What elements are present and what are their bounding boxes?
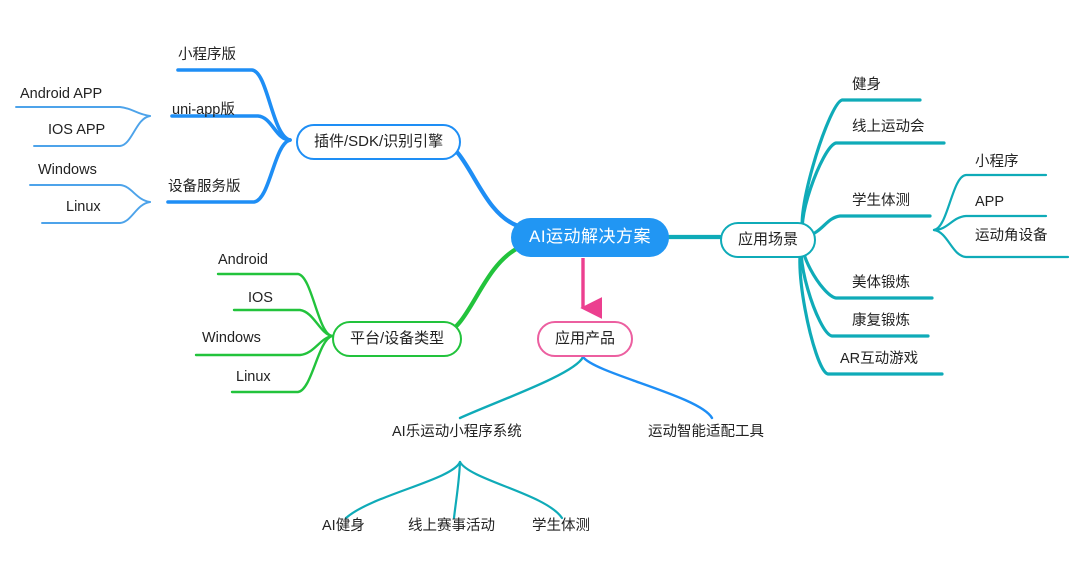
- node-ai-fitness-label: AI健身: [322, 518, 365, 534]
- node-platform-linux-label: Linux: [236, 369, 271, 385]
- connector-lines: [0, 0, 1076, 577]
- node-scenario-ar-interactive-games-label: AR互动游戏: [840, 351, 918, 367]
- node-plugin-windows[interactable]: Windows: [38, 163, 97, 178]
- link-products-to-smarttool: [583, 357, 712, 418]
- node-plugin-sdk-label: 插件/SDK/识别引擎: [314, 133, 443, 150]
- link-ailyd-to-online-events: [454, 462, 460, 518]
- node-scenario-student-fitness-test-label: 学生体测: [852, 193, 910, 209]
- mindmap-canvas: AI运动解决方案 插件/SDK/识别引擎 小程序版 uni-app版 Andro…: [0, 0, 1076, 577]
- node-app-scenarios-label: 应用场景: [738, 231, 798, 248]
- node-platform-device-type-label: 平台/设备类型: [350, 330, 444, 347]
- node-device-service-version-label: 设备服务版: [168, 179, 241, 195]
- node-ios-app-label: IOS APP: [48, 122, 105, 138]
- node-scenario-rehabilitation-label: 康复锻炼: [852, 313, 910, 329]
- node-app-scenarios[interactable]: 应用场景: [720, 222, 816, 258]
- node-scenario-fitness-label: 健身: [852, 77, 881, 93]
- node-miniprogram-version[interactable]: 小程序版: [178, 48, 236, 63]
- node-platform-ios-label: IOS: [248, 290, 273, 306]
- link-scenarios-to-online-sportsmeet: [802, 143, 944, 237]
- node-plugin-sdk[interactable]: 插件/SDK/识别引擎: [296, 124, 461, 160]
- link-platform-to-android: [218, 274, 332, 336]
- node-product-student-fitness-test[interactable]: 学生体测: [532, 519, 590, 534]
- node-scenario-test-miniprogram[interactable]: 小程序: [975, 155, 1019, 170]
- node-scenario-test-app[interactable]: APP: [975, 195, 1004, 210]
- node-scenario-test-app-label: APP: [975, 194, 1004, 210]
- node-platform-linux[interactable]: Linux: [236, 370, 271, 385]
- link-scenarios-to-student-fitness-test: [806, 216, 930, 237]
- node-plugin-linux[interactable]: Linux: [66, 200, 101, 215]
- node-scenario-online-sports-meet[interactable]: 线上运动会: [852, 120, 925, 135]
- node-scenario-student-fitness-test[interactable]: 学生体测: [852, 194, 910, 209]
- node-ai-sports-miniprogram-system-label: AI乐运动小程序系统: [392, 424, 522, 440]
- node-ios-app[interactable]: IOS APP: [48, 123, 105, 138]
- node-platform-android[interactable]: Android: [218, 253, 268, 268]
- node-scenario-body-shaping[interactable]: 美体锻炼: [852, 276, 910, 291]
- link-ailyd-to-aifitness: [346, 462, 460, 518]
- node-device-service-version[interactable]: 设备服务版: [168, 180, 241, 195]
- link-uniapp-to-android-app: [16, 107, 150, 116]
- node-online-competition-events[interactable]: 线上赛事活动: [408, 519, 495, 534]
- node-scenario-rehabilitation[interactable]: 康复锻炼: [852, 314, 910, 329]
- root-node-label: AI运动解决方案: [529, 227, 651, 246]
- node-uniapp-version-label: uni-app版: [172, 102, 235, 118]
- node-platform-ios[interactable]: IOS: [248, 291, 273, 306]
- node-platform-windows[interactable]: Windows: [202, 331, 261, 346]
- node-ai-sports-miniprogram-system[interactable]: AI乐运动小程序系统: [392, 425, 522, 440]
- node-smart-sports-adaptation-tool[interactable]: 运动智能适配工具: [648, 425, 764, 440]
- node-plugin-windows-label: Windows: [38, 162, 97, 178]
- node-scenario-sports-corner-device-label: 运动角设备: [975, 228, 1048, 244]
- node-scenario-test-miniprogram-label: 小程序: [975, 154, 1019, 170]
- node-plugin-linux-label: Linux: [66, 199, 101, 215]
- node-product-student-fitness-test-label: 学生体测: [532, 518, 590, 534]
- link-plugin-to-uniapp: [172, 116, 290, 140]
- node-scenario-sports-corner-device[interactable]: 运动角设备: [975, 229, 1048, 244]
- node-platform-device-type[interactable]: 平台/设备类型: [332, 321, 462, 357]
- node-ai-fitness[interactable]: AI健身: [322, 519, 365, 534]
- node-online-competition-events-label: 线上赛事活动: [408, 518, 495, 534]
- node-scenario-fitness[interactable]: 健身: [852, 78, 881, 93]
- node-android-app-label: Android APP: [20, 86, 102, 102]
- node-scenario-online-sports-meet-label: 线上运动会: [852, 119, 925, 135]
- node-smart-sports-adaptation-tool-label: 运动智能适配工具: [648, 424, 764, 440]
- node-android-app[interactable]: Android APP: [20, 87, 102, 102]
- link-products-to-ailyd-system: [460, 357, 583, 418]
- node-app-products-label: 应用产品: [555, 330, 615, 347]
- node-uniapp-version[interactable]: uni-app版: [172, 103, 235, 118]
- node-platform-android-label: Android: [218, 252, 268, 268]
- link-ailyd-to-student-test: [460, 462, 562, 518]
- root-node[interactable]: AI运动解决方案: [511, 218, 669, 257]
- node-scenario-ar-interactive-games[interactable]: AR互动游戏: [840, 352, 918, 367]
- node-scenario-body-shaping-label: 美体锻炼: [852, 275, 910, 291]
- node-platform-windows-label: Windows: [202, 330, 261, 346]
- node-app-products[interactable]: 应用产品: [537, 321, 633, 357]
- node-miniprogram-version-label: 小程序版: [178, 47, 236, 63]
